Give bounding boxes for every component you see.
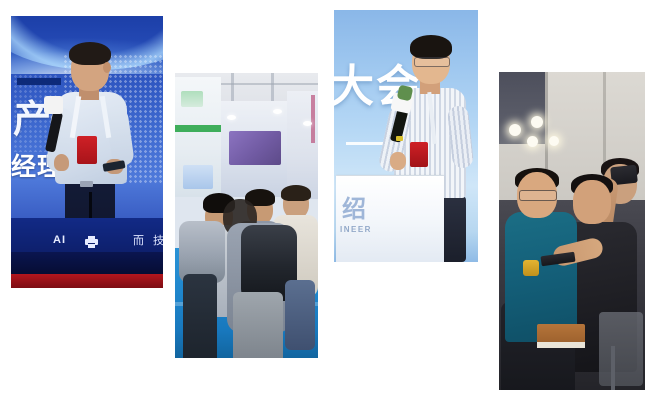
polo-chest-logo (523, 260, 539, 276)
stage-light-2 (527, 136, 538, 147)
audience-head-middle (573, 180, 611, 224)
booth-right-pink-edge (311, 95, 315, 143)
audience-teal-polo (505, 212, 577, 342)
presenter-badge (410, 142, 428, 167)
microphone-indicator (396, 136, 403, 141)
speaker-badge (77, 136, 97, 164)
backdrop-footer-label: AI (53, 234, 66, 246)
stage-lower-band-dark (11, 252, 163, 274)
photo-speaker-on-blue-stage[interactable]: 产 经理事 AI 而 技 (11, 16, 163, 288)
visitor-hair-far-right (281, 185, 311, 201)
chair-back (599, 312, 643, 386)
visitor-trousers-right (285, 280, 315, 350)
photo-seated-audience[interactable] (499, 72, 645, 390)
wall-dark-panel (499, 72, 545, 144)
stage-red-carpet (11, 274, 163, 288)
booth-left-green-stripe (175, 125, 221, 132)
photo-presenter-at-podium[interactable]: 大会 绍 INEER (334, 10, 478, 262)
ceiling-lamp-2 (273, 109, 282, 114)
stage-light-3 (531, 116, 543, 128)
chair-leg (611, 346, 615, 390)
visitor-trousers-foreground (233, 292, 283, 358)
microphone-flag (44, 96, 63, 114)
photo-exhibition-hall-aisle[interactable] (175, 73, 318, 358)
visitor-trousers-left (183, 274, 217, 358)
microphone-flag-label (80, 181, 93, 187)
stage-light-1 (509, 124, 521, 136)
notebook-pages (537, 342, 585, 348)
backdrop-footer-glyph-1: 而 (133, 232, 144, 248)
printer-icon (85, 236, 98, 247)
speaker-left-hand (54, 154, 69, 171)
lectern-logo-subtext: INEER (340, 225, 372, 234)
presenter-hand (390, 152, 406, 170)
photo-gallery: 产 经理事 AI 而 技 (0, 0, 658, 408)
eyeglasses-icon (519, 190, 557, 201)
booth-left-sign (181, 91, 203, 107)
booth-blue-sign (183, 165, 213, 189)
presenter-hair (410, 35, 452, 59)
speaker-ear (103, 62, 111, 73)
ceiling-lamp-3 (303, 121, 312, 126)
eyeglasses-icon (414, 57, 450, 67)
lectern-logo-glyph: 绍 (342, 189, 366, 224)
stage-light-4 (549, 136, 559, 146)
backdrop-blue-bar (17, 78, 61, 85)
booth-middle-purple-panel (229, 131, 281, 165)
ceiling-lamp-1 (227, 115, 236, 120)
backdrop-footer-glyph-2: 技 (153, 232, 163, 248)
